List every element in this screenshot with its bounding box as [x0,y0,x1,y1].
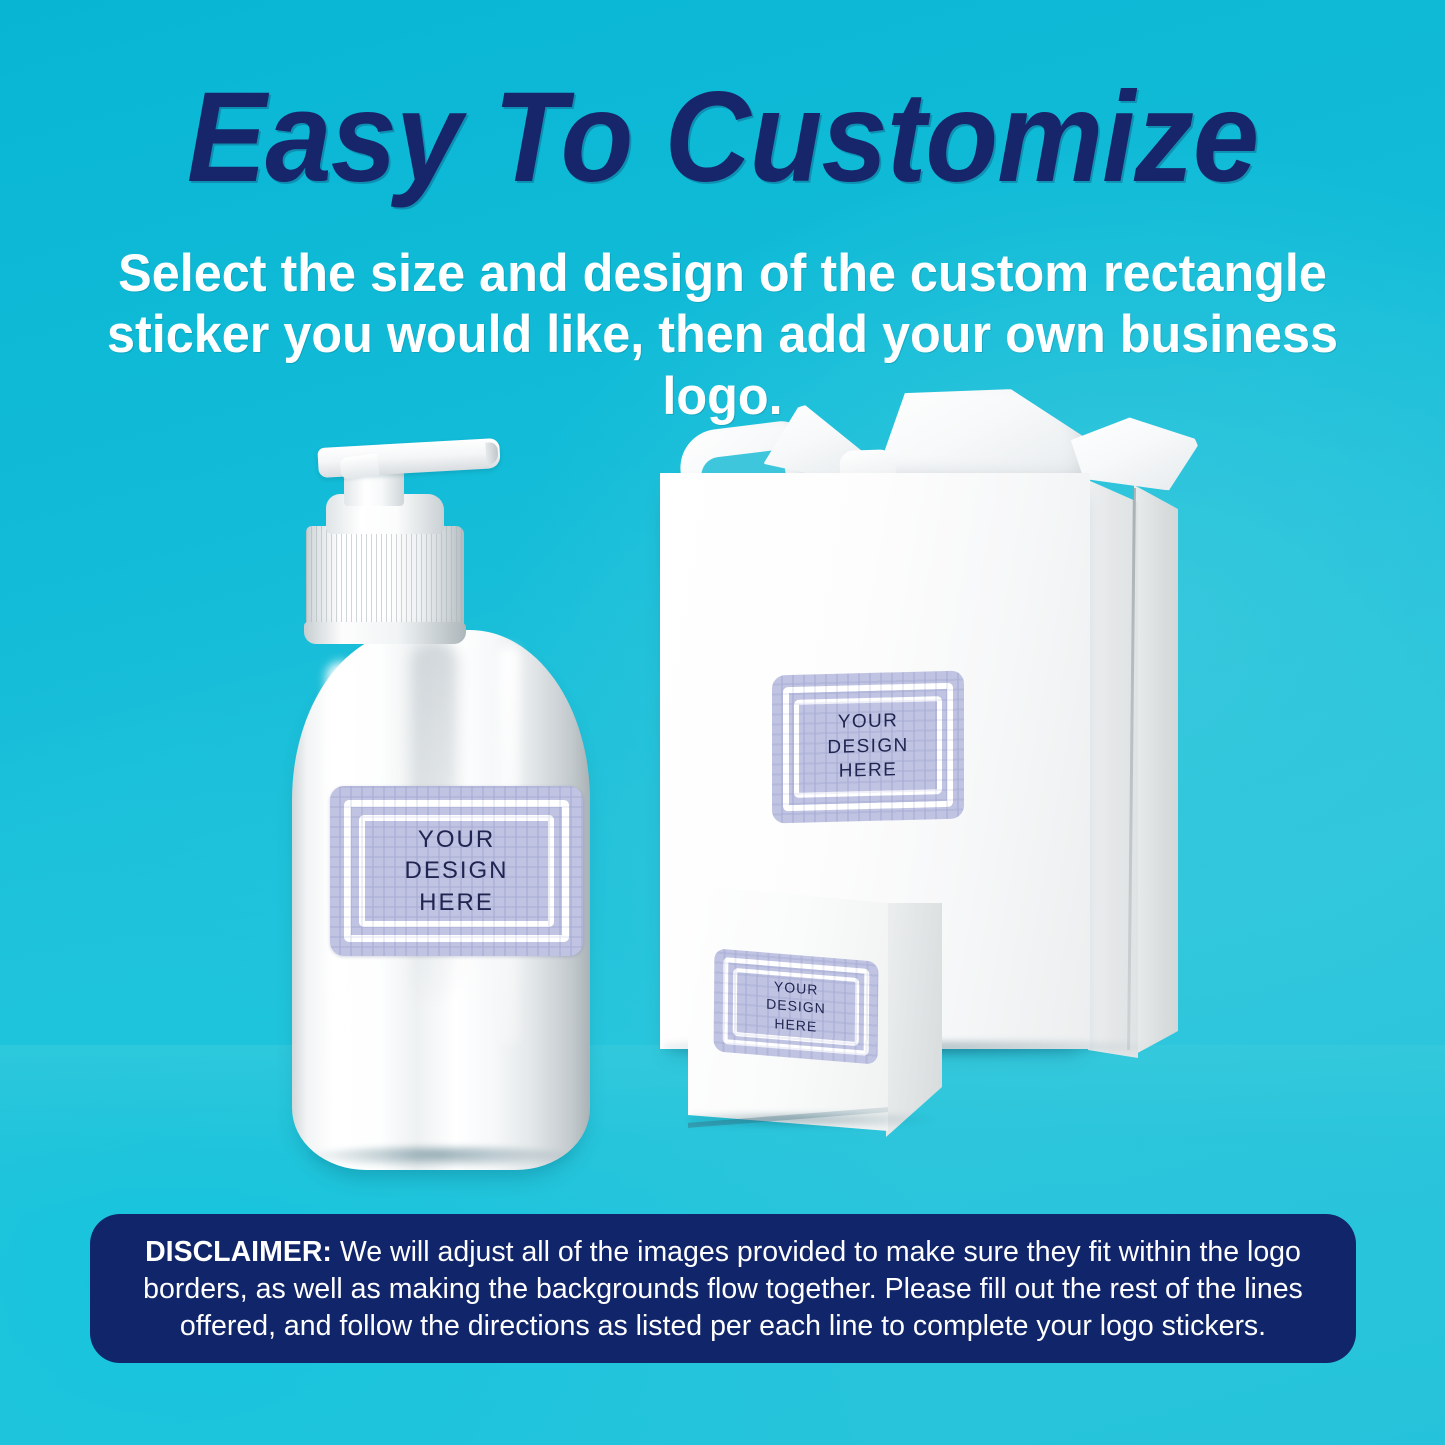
sticker-on-small-box[interactable]: YOUR DESIGN HERE [714,948,879,1064]
sticker-line-3: HERE [839,759,897,785]
sticker-placeholder-text: YOUR DESIGN HERE [714,948,879,1064]
sticker-line-1: YOUR [418,824,495,855]
bottle-contact-shadow [306,1146,574,1168]
sticker-line-3: HERE [774,1014,817,1036]
poster-canvas: Easy To Customize Select the size and de… [0,0,1445,1445]
disclaimer-label: DISCLAIMER: [145,1236,332,1268]
bottle-pump-collar-base [304,622,466,644]
sticker-line-2: DESIGN [827,734,908,761]
small-box-side-panel [886,903,942,1137]
small-box-contact-shadow [690,1113,940,1129]
gift-box-side-back [1134,485,1178,1055]
sticker-line-1: YOUR [838,709,899,735]
pump-nozzle-icon [317,438,500,478]
sticker-line-2: DESIGN [404,855,508,886]
sticker-placeholder-text: YOUR DESIGN HERE [330,786,583,956]
bottle-pump-collar [306,526,464,634]
sticker-on-gift-box[interactable]: YOUR DESIGN HERE [772,670,964,823]
disclaimer-banner: DISCLAIMER: We will adjust all of the im… [90,1214,1356,1363]
sticker-line-3: HERE [419,887,494,918]
page-title: Easy To Customize [51,74,1395,202]
sticker-placeholder-text: YOUR DESIGN HERE [772,670,964,823]
sticker-on-bottle[interactable]: YOUR DESIGN HERE [330,786,583,956]
pump-nozzle-lip [339,453,379,480]
